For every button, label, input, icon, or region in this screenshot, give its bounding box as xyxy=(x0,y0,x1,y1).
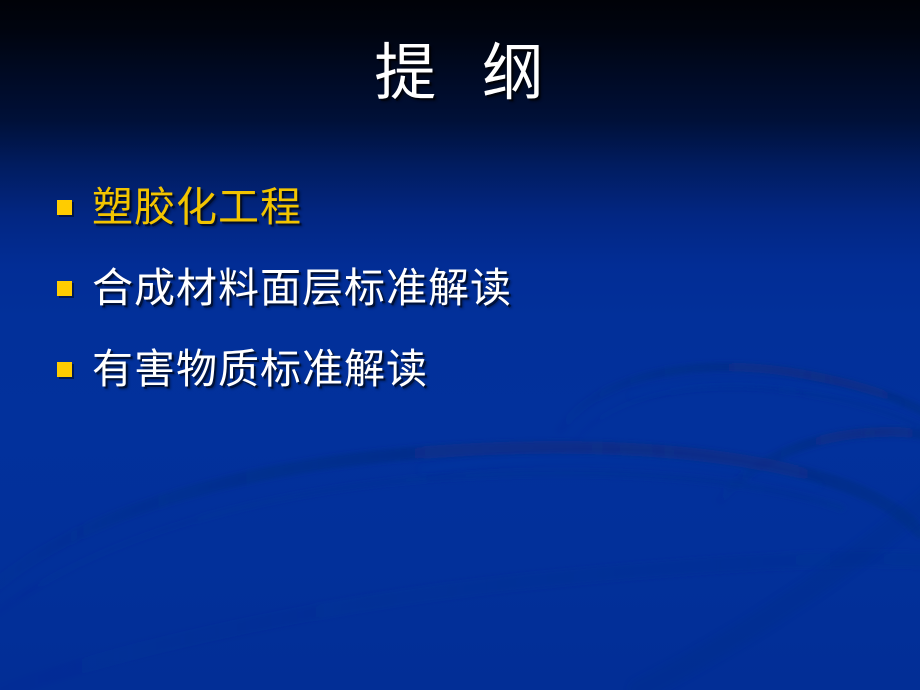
list-item[interactable]: 有害物质标准解读 xyxy=(52,338,872,400)
list-item-label: 塑胶化工程 xyxy=(92,182,302,232)
square-bullet-icon xyxy=(57,281,72,296)
square-bullet-icon xyxy=(57,362,72,377)
list-item[interactable]: 合成材料面层标准解读 xyxy=(52,257,872,319)
list-item-label: 有害物质标准解读 xyxy=(92,344,428,394)
slide-title: 提 纲 xyxy=(0,36,920,110)
slide-bullet-list: 塑胶化工程 合成材料面层标准解读 有害物质标准解读 xyxy=(52,176,872,419)
slide-title-text: 提 纲 xyxy=(374,36,545,110)
list-item[interactable]: 塑胶化工程 xyxy=(52,176,872,238)
list-item-label: 合成材料面层标准解读 xyxy=(92,263,512,313)
square-bullet-icon xyxy=(57,200,72,215)
presentation-slide: 提 纲 塑胶化工程 合成材料面层标准解读 有害物质标准解读 xyxy=(0,0,920,690)
